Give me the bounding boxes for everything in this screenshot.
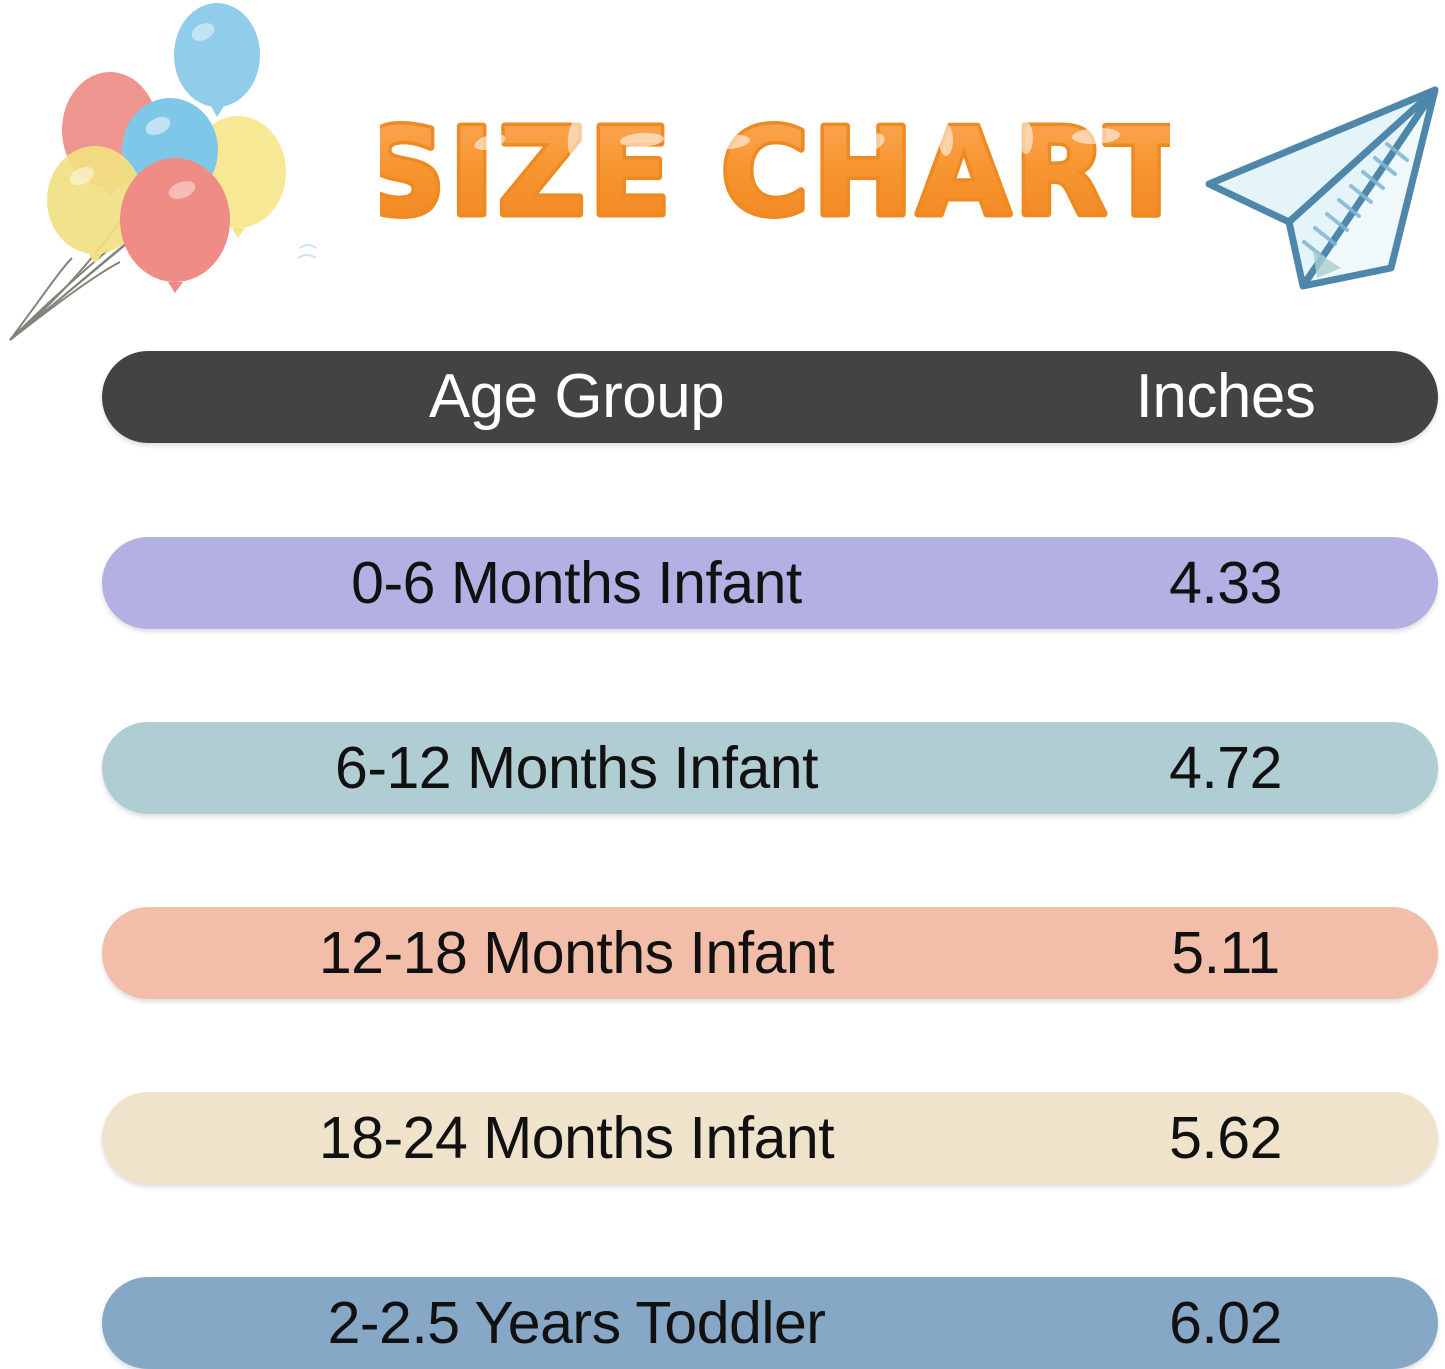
cell-age-group: 6-12 Months Infant xyxy=(102,739,1057,798)
cell-inches: 5.62 xyxy=(1057,1109,1438,1168)
table-row: 2-2.5 Years Toddler 6.02 xyxy=(102,1277,1438,1369)
table-row: 6-12 Months Infant 4.72 xyxy=(102,722,1438,814)
cell-age-group: 18-24 Months Infant xyxy=(102,1109,1057,1168)
cell-age-group: 12-18 Months Infant xyxy=(102,924,1057,983)
paper-plane-icon xyxy=(1185,72,1445,304)
cell-age-group: 0-6 Months Infant xyxy=(102,554,1057,613)
column-header-inches: Inches xyxy=(1057,366,1438,428)
page-title: SIZE CHART xyxy=(380,96,1170,256)
table-row: 18-24 Months Infant 5.62 xyxy=(102,1092,1438,1184)
title-text: SIZE CHART xyxy=(380,104,1170,243)
cell-inches: 6.02 xyxy=(1057,1294,1438,1353)
table-row: 0-6 Months Infant 4.33 xyxy=(102,537,1438,629)
cell-inches: 5.11 xyxy=(1057,924,1438,983)
cell-age-group: 2-2.5 Years Toddler xyxy=(102,1294,1057,1353)
cell-inches: 4.72 xyxy=(1057,739,1438,798)
size-chart-table: Age Group Inches 0-6 Months Infant 4.33 … xyxy=(102,351,1438,1369)
balloons-icon xyxy=(0,0,320,345)
table-row: 12-18 Months Infant 5.11 xyxy=(102,907,1438,999)
table-header-row: Age Group Inches xyxy=(102,351,1438,443)
column-header-age-group: Age Group xyxy=(102,366,1057,428)
cell-inches: 4.33 xyxy=(1057,554,1438,613)
